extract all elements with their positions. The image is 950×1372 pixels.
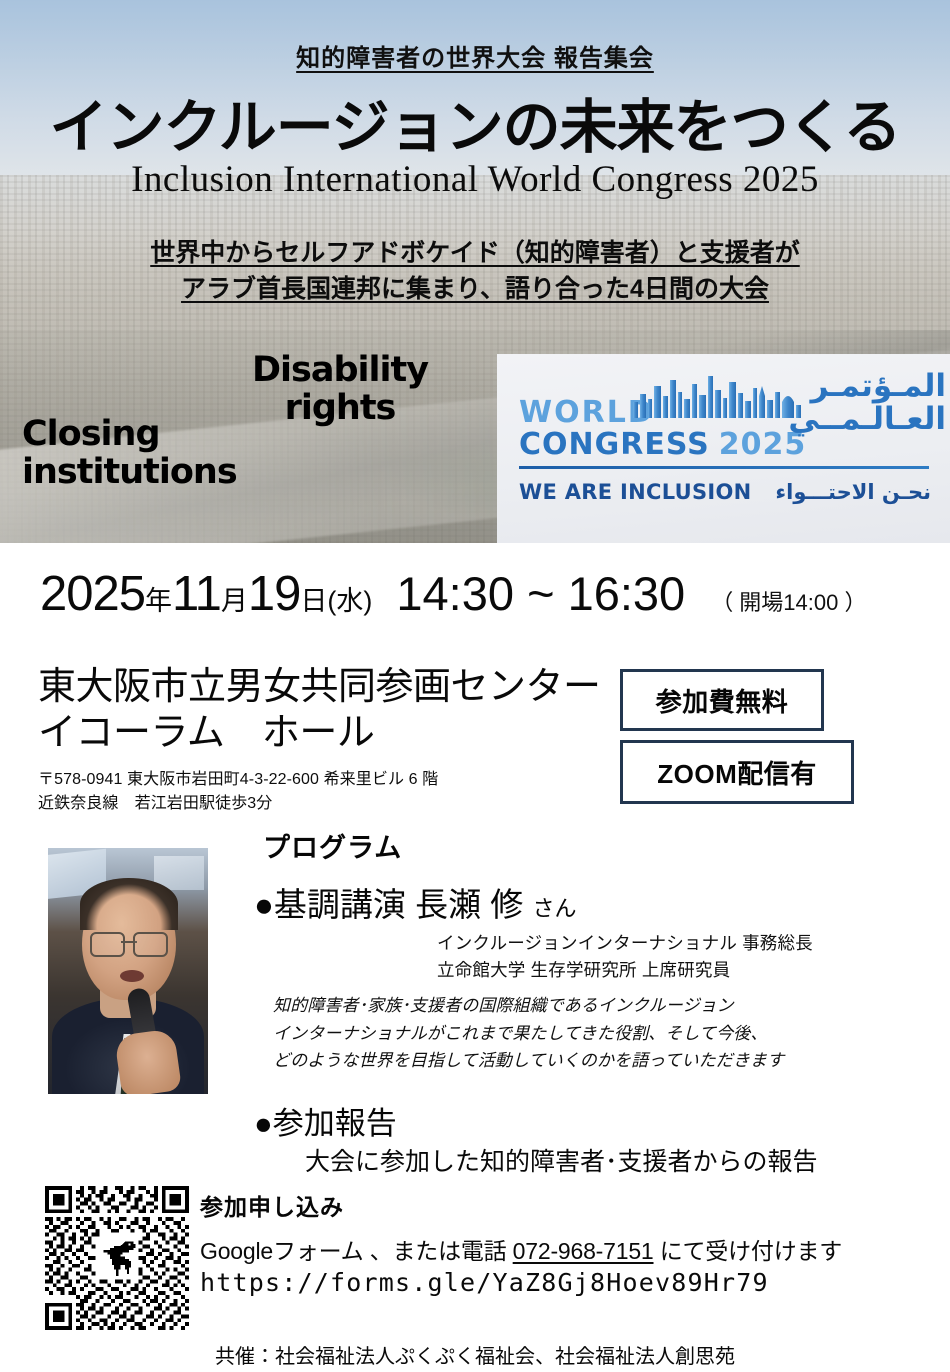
event-year: 2025 (40, 566, 145, 622)
portrait-glasses (90, 932, 168, 954)
cohost-footer: 共催：社会福祉法人ぷくぷく福祉会、社会福祉法人創思苑 (0, 1340, 950, 1369)
portrait-hair (80, 878, 178, 930)
logo-arabic-line-1: المـؤتمـر (788, 370, 946, 403)
event-datetime: 2025 年 11 月 19 日 (水) 14:30 ~ 16:30 （ 開場1… (40, 566, 920, 628)
event-day-unit: 日 (300, 579, 327, 618)
venue-address-line-1: 〒578-0941 東大阪市岩田町4-3-22-600 希来里ビル 6 階 (38, 768, 638, 792)
english-title: Inclusion International World Congress 2… (0, 158, 950, 201)
event-doors-open: （ 開場14:00 ） (711, 585, 866, 617)
event-year-unit: 年 (145, 579, 172, 618)
apply-prefix: Googleフォーム 、または電話 (200, 1238, 513, 1264)
event-month: 11 (172, 566, 221, 622)
logo-text-congress: CONGRESS (519, 430, 710, 460)
venue-address: 〒578-0941 東大阪市岩田町4-3-22-600 希来里ビル 6 階 近鉄… (38, 768, 638, 816)
keynote-description: 知的障害者･家族･支援者の国際組織であるインクルージョン インターナショナルがこ… (273, 992, 784, 1075)
keynote-label: ●基調講演 (254, 886, 406, 923)
logo-arabic-wordmark: المـؤتمـر العـالـمــي (788, 370, 946, 435)
credential-line-2: 立命館大学 生存学研究所 上席研究員 (437, 957, 813, 984)
world-congress-logo: WORLD (497, 354, 950, 543)
qr-code[interactable] (45, 1186, 189, 1330)
venue-name-line-2: イコーラム ホール (38, 710, 638, 756)
lead-line-2: アラブ首長国連邦に集まり、語り合った4日間の大会 (181, 272, 769, 308)
venue-address-line-2: 近鉄奈良線 若江岩田駅徒歩3分 (38, 792, 638, 816)
keynote-heading: ●基調講演 長瀬 修 さん (254, 878, 576, 926)
report-description: 大会に参加した知的障害者･支援者からの報告 (305, 1142, 818, 1178)
poster: 知的障害者の世界大会 報告集会 インクルージョンの未来をつくる Inclusio… (0, 0, 950, 1372)
keynote-honorific: さん (532, 896, 576, 921)
speaker-credentials: インクルージョンインターナショナル 事務総長 立命館大学 生存学研究所 上席研究… (437, 930, 813, 983)
logo-arabic-line-2: العـالـمــي (788, 403, 946, 436)
portrait-mouth (120, 970, 144, 982)
description-line-2: インターナショナルがこれまで果たしてきた役割、そして今後、 (273, 1020, 784, 1048)
program-heading: プログラム (263, 826, 402, 865)
description-line-3: どのような世界を目指して活動していくのかを語っていただきます (273, 1047, 784, 1075)
apply-phone[interactable]: 072-968-7151 (513, 1238, 654, 1264)
speaker-portrait (48, 848, 208, 1094)
tagline-arabic: نحـن الاحتـــواء (775, 480, 931, 504)
apply-suffix: にて受け付けます (654, 1238, 843, 1264)
apply-instructions: Googleフォーム 、または電話 072-968-7151 にて受け付けます (200, 1232, 842, 1266)
skyline-icon (631, 372, 803, 418)
venue-block: 東大阪市立男女共同参画センター イコーラム ホール 〒578-0941 東大阪市… (38, 664, 638, 816)
report-heading: ●参加報告 (254, 1098, 397, 1143)
apply-heading: 参加申し込み (200, 1188, 344, 1222)
badge-free-admission: 参加費無料 (620, 669, 824, 731)
event-kicker: 知的障害者の世界大会 報告集会 (0, 38, 950, 73)
description-line-1: 知的障害者･家族･支援者の国際組織であるインクルージョン (273, 992, 784, 1020)
qr-code-svg (45, 1186, 189, 1330)
logo-divider (519, 466, 929, 469)
keynote-speaker-name: 長瀬 修 (415, 886, 523, 923)
badge-zoom-streaming: ZOOM配信有 (620, 740, 854, 804)
hero-banner: 知的障害者の世界大会 報告集会 インクルージョンの未来をつくる Inclusio… (0, 0, 950, 543)
apply-form-url[interactable]: https://forms.gle/YaZ8Gj8Hoev89Hr79 (200, 1268, 769, 1297)
page-title: インクルージョンの未来をつくる (0, 80, 950, 164)
tagline-english: WE ARE INCLUSION (519, 480, 752, 504)
event-day: 19 (248, 566, 301, 622)
event-time-range: 14:30 ~ 16:30 (396, 566, 685, 621)
keyword-closing-institutions: Closing institutions (22, 416, 292, 492)
logo-tagline-row: WE ARE INCLUSION نحـن الاحتـــواء (519, 480, 931, 504)
lead-paragraph: 世界中からセルフアドボケイド（知的障害者）と支援者が アラブ首長国連邦に集まり、… (0, 236, 950, 307)
venue-name-line-1: 東大阪市立男女共同参画センター (38, 664, 638, 710)
event-month-unit: 月 (221, 579, 248, 618)
event-weekday: (水) (327, 579, 372, 618)
lead-line-1: 世界中からセルフアドボケイド（知的障害者）と支援者が (150, 236, 800, 272)
credential-line-1: インクルージョンインターナショナル 事務総長 (437, 930, 813, 957)
